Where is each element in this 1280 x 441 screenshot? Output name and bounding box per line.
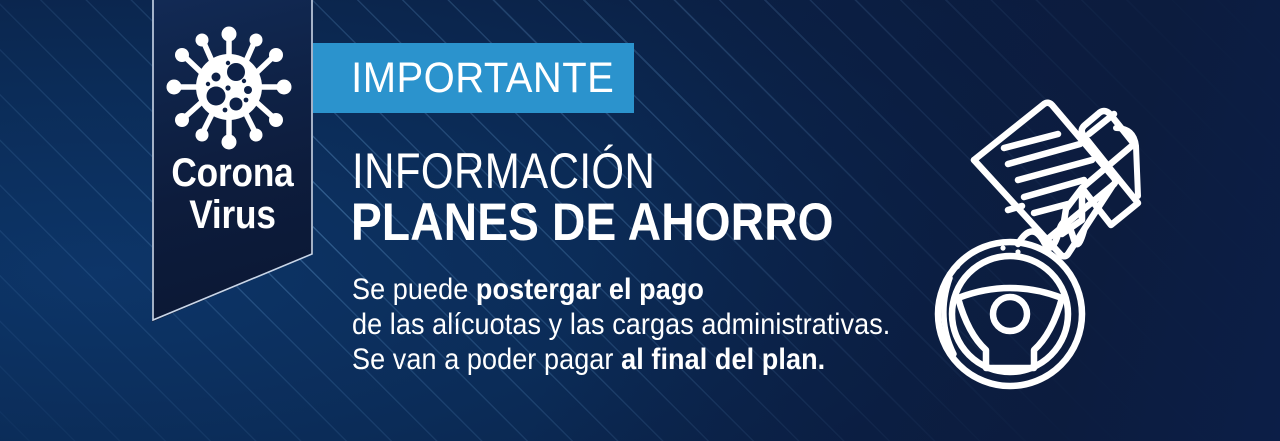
body-copy-line-3: Se van a poder pagar al final del plan. <box>352 342 890 377</box>
body-copy-line-3-bold: al final del plan. <box>621 343 825 376</box>
corona-virus-label-line1: Corona <box>162 152 304 194</box>
corona-virus-label: Corona Virus <box>162 152 304 236</box>
importante-tag: IMPORTANTE <box>313 43 634 113</box>
body-copy-line-1-plain: Se puede <box>352 273 476 306</box>
body-copy: Se puede postergar el pago de las alícuo… <box>352 272 890 377</box>
body-copy-line-1: Se puede postergar el pago <box>352 272 890 307</box>
steering-wheel-icon <box>938 242 1082 386</box>
heading-eyebrow: INFORMACIÓN <box>352 146 655 196</box>
coronavirus-icon <box>166 24 292 150</box>
page-title: PLANES DE AHORRO <box>351 196 834 249</box>
body-copy-line-3-plain: Se van a poder pagar <box>352 343 621 376</box>
body-copy-line-2-plain: de las alícuotas y las cargas administra… <box>352 308 890 341</box>
body-copy-line-1-bold: postergar el pago <box>476 273 704 306</box>
coronavirus-savings-plan-banner: Corona Virus IMPORTANTE INFORMACIÓN PLAN… <box>0 0 1280 441</box>
importante-tag-label: IMPORTANTE <box>313 57 614 100</box>
corona-virus-label-line2: Virus <box>162 194 304 236</box>
body-copy-line-2: de las alícuotas y las cargas administra… <box>352 307 890 342</box>
signed-document-illustration <box>948 92 1148 392</box>
